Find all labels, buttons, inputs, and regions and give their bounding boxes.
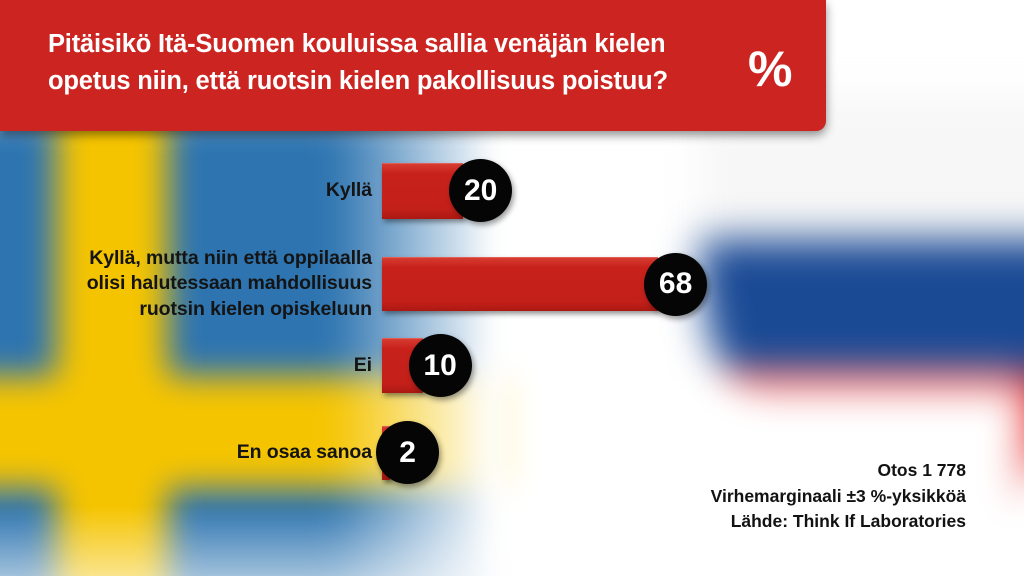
bar-wrap: 20 <box>382 159 512 222</box>
infographic-root: Pitäisikö Itä-Suomen kouluissa sallia ve… <box>0 0 1024 576</box>
value-badge: 68 <box>644 253 707 316</box>
chart-row: Ei 10 <box>0 334 1024 397</box>
title-line-1: Pitäisikö Itä-Suomen kouluissa sallia ve… <box>48 30 665 58</box>
bar-label-line: Ei <box>0 353 372 378</box>
percent-symbol: % <box>748 44 792 94</box>
bar-wrap: 68 <box>382 253 707 316</box>
footnote-sample: Otos 1 778 <box>711 458 966 483</box>
footnote-source: Lähde: Think If Laboratories <box>711 509 966 534</box>
page-title: Pitäisikö Itä-Suomen kouluissa sallia ve… <box>48 26 738 99</box>
chart-row: Kyllä, mutta niin että oppilaalla olisi … <box>0 246 1024 322</box>
bar-wrap: 2 <box>382 421 439 484</box>
header-banner: Pitäisikö Itä-Suomen kouluissa sallia ve… <box>0 0 826 131</box>
bar-label-line: En osaa sanoa <box>0 440 372 465</box>
footnote-margin-of-error: Virhemarginaali ±3 %-yksikköä <box>711 484 966 509</box>
title-line-2: opetus niin, että ruotsin kielen pakolli… <box>48 63 738 100</box>
footnote: Otos 1 778 Virhemarginaali ±3 %-yksikköä… <box>711 458 966 534</box>
bar-label-line: olisi halutessaan mahdollisuus <box>0 271 372 296</box>
value-badge: 2 <box>376 421 439 484</box>
value-badge: 10 <box>409 334 472 397</box>
chart-row: Kyllä 20 <box>0 159 1024 222</box>
bar-wrap: 10 <box>382 334 472 397</box>
bar-label: En osaa sanoa <box>0 440 382 465</box>
bar-label-line: ruotsin kielen opiskeluun <box>0 297 372 322</box>
bar-label-line: Kyllä, mutta niin että oppilaalla <box>0 246 372 271</box>
bar-label: Kyllä <box>0 178 382 203</box>
value-badge: 20 <box>449 159 512 222</box>
bar-label: Kyllä, mutta niin että oppilaalla olisi … <box>0 246 382 322</box>
bar-label: Ei <box>0 353 382 378</box>
bar-value <box>382 257 658 311</box>
bar-label-line: Kyllä <box>0 178 372 203</box>
header-inner: Pitäisikö Itä-Suomen kouluissa sallia ve… <box>48 26 826 99</box>
